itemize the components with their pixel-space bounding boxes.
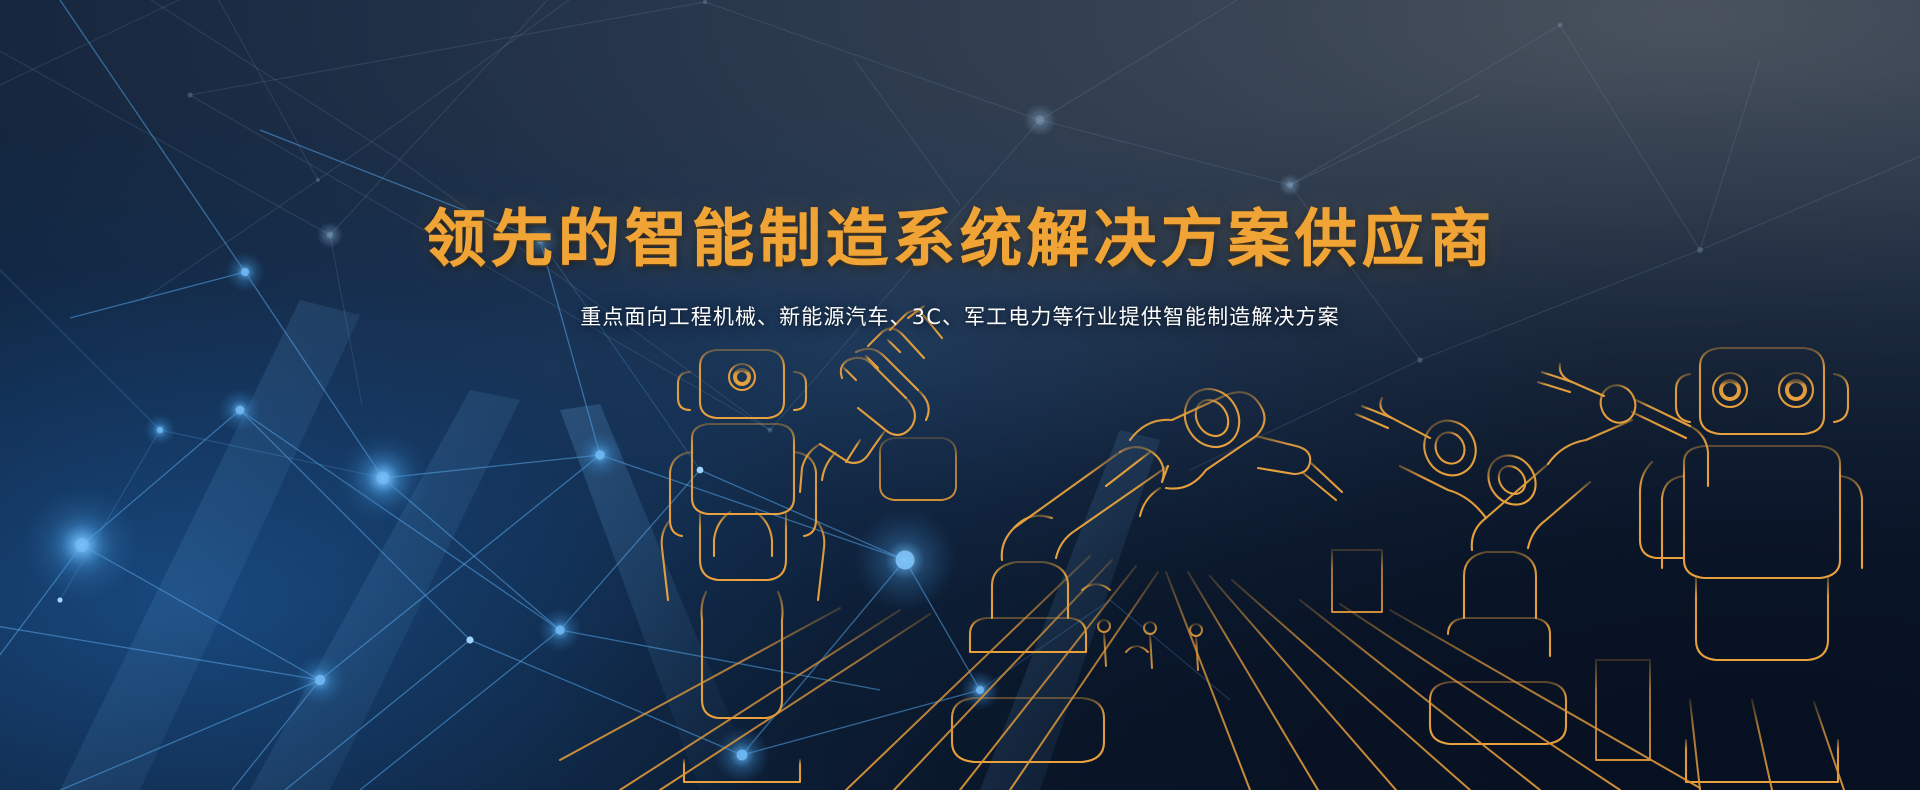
conveyor-track-lines (560, 556, 1900, 790)
hero-banner: 领先的智能制造系统解决方案供应商 重点面向工程机械、新能源汽车、3C、军工电力等… (0, 0, 1920, 790)
page-subtitle: 重点面向工程机械、新能源汽车、3C、军工电力等行业提供智能制造解决方案 (0, 302, 1920, 334)
page-title: 领先的智能制造系统解决方案供应商 (0, 206, 1920, 272)
humanoid-robot-left (662, 350, 825, 782)
tool-arm-right (1538, 364, 1708, 558)
factory-frame-structure (580, 346, 1182, 790)
articulated-robot-arm-right (1356, 398, 1632, 768)
hero-copy: 领先的智能制造系统解决方案供应商 重点面向工程机械、新能源汽车、3C、军工电力等… (0, 206, 1920, 333)
welding-robot-arm (952, 379, 1342, 762)
industrial-line-art (0, 0, 1920, 790)
industrial-robot-arm-gripper (800, 306, 942, 520)
